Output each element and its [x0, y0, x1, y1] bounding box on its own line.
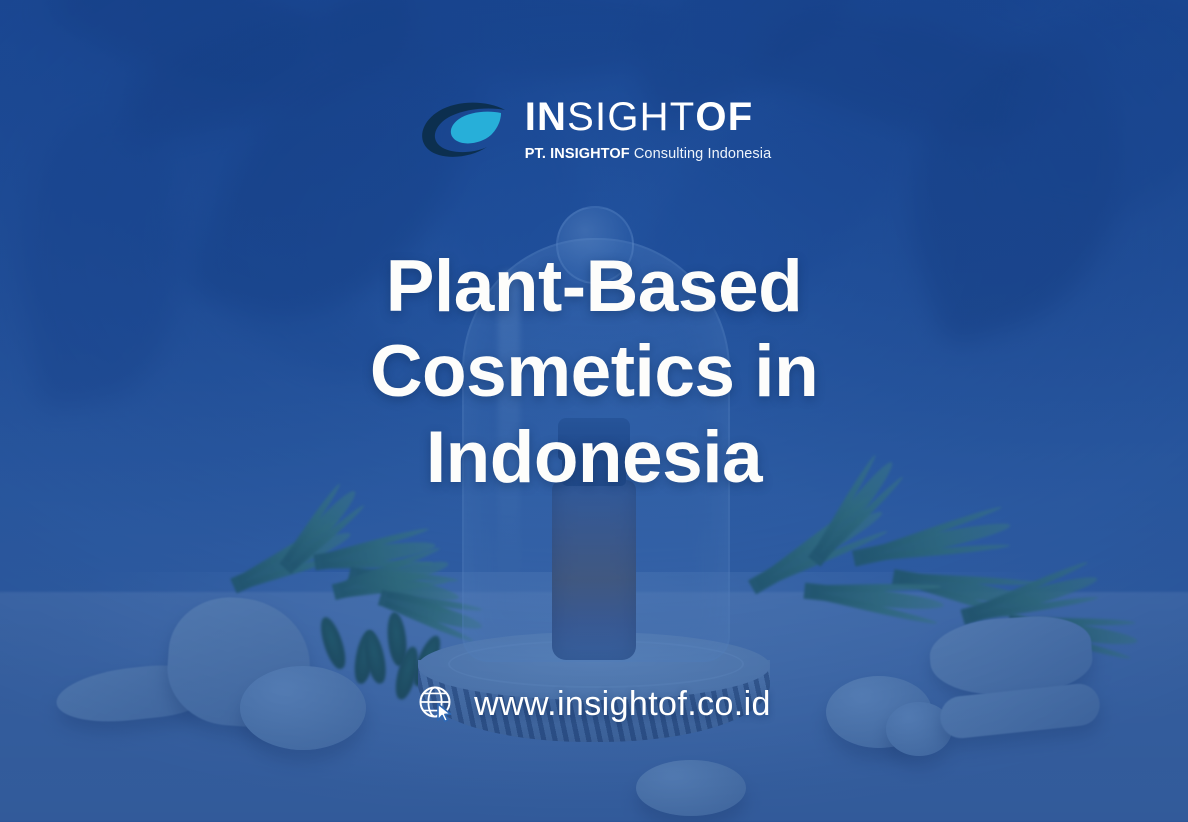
brand-text-block: INSIGHTOF PT. INSIGHTOF Consulting Indon… — [525, 97, 772, 162]
brand-part-2: SIGHT — [567, 95, 695, 139]
tagline-company: PT. INSIGHTOF — [525, 146, 630, 162]
brand-part-3: OF — [695, 95, 753, 139]
slide-canvas: INSIGHTOF PT. INSIGHTOF Consulting Indon… — [0, 0, 1188, 822]
page-title-line-1: Plant-Based — [314, 244, 874, 329]
website-url-row[interactable]: www.insightof.co.id — [0, 684, 1188, 724]
globe-cursor-icon — [417, 684, 457, 724]
brand-logo-lockup[interactable]: INSIGHTOF PT. INSIGHTOF Consulting Indon… — [417, 97, 772, 162]
website-url-text[interactable]: www.insightof.co.id — [474, 685, 771, 724]
brand-wordmark: INSIGHTOF — [525, 97, 772, 137]
insightof-leaf-mark-icon — [417, 99, 509, 161]
brand-tagline: PT. INSIGHTOF Consulting Indonesia — [525, 146, 772, 162]
page-title-line-3: Indonesia — [314, 415, 874, 500]
page-title: Plant-Based Cosmetics in Indonesia — [314, 244, 874, 500]
slide-content: INSIGHTOF PT. INSIGHTOF Consulting Indon… — [0, 0, 1188, 822]
tagline-descriptor: Consulting Indonesia — [630, 146, 772, 162]
page-title-line-2: Cosmetics in — [314, 329, 874, 414]
brand-part-1: IN — [525, 95, 567, 139]
